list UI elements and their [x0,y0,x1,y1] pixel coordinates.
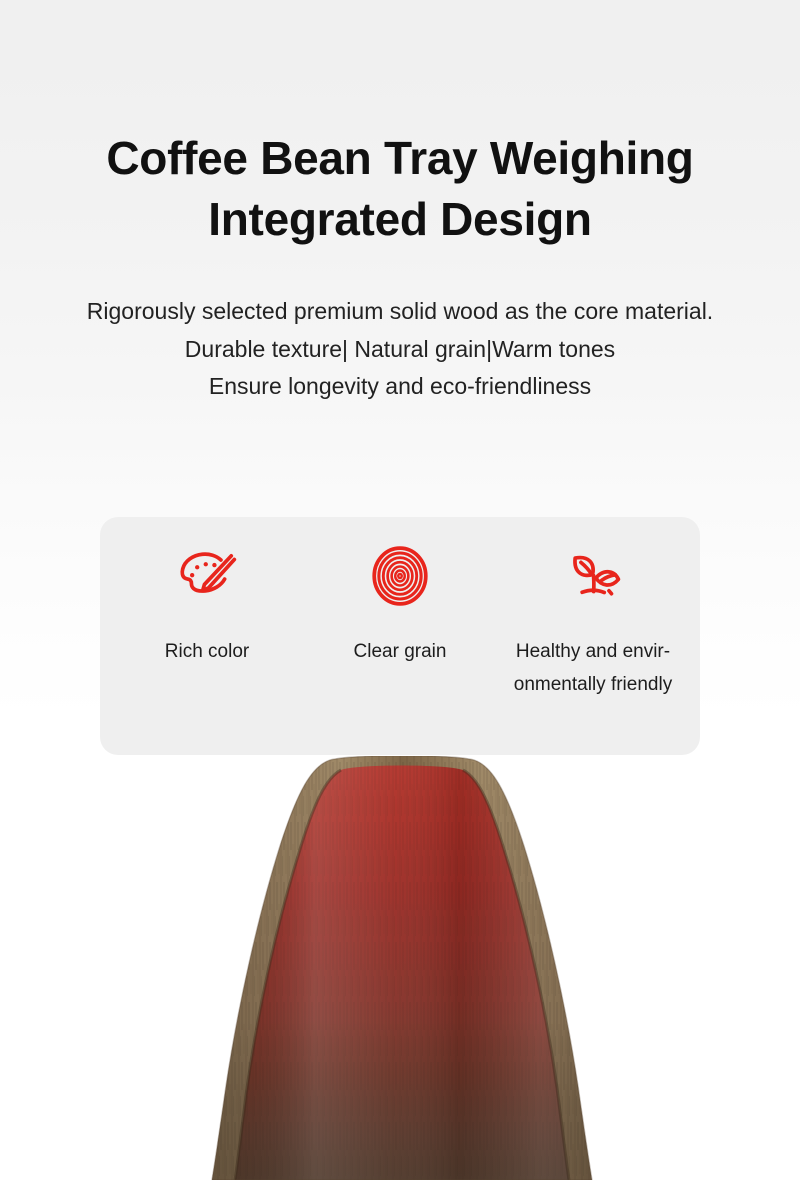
tree-rings-icon [367,543,433,609]
palette-icon [174,543,240,609]
feature-item-clear-grain: Clear grain [305,543,495,668]
feature-card: Rich color Clear grain [100,517,700,755]
feature-list: Rich color Clear grain [100,517,700,755]
page-title: Coffee Bean Tray Weighing Integrated Des… [0,0,800,249]
feature-label: Rich color [165,635,249,668]
product-image [0,756,800,1180]
feature-label: Healthy and envir- onmentally friendly [514,635,672,702]
hero-section: Coffee Bean Tray Weighing Integrated Des… [0,0,800,405]
feature-label: Clear grain [354,635,447,668]
feature-item-rich-color: Rich color [112,543,302,668]
sprout-icon [560,543,626,609]
feature-item-eco-friendly: Healthy and envir- onmentally friendly [498,543,688,702]
product-detail-page: Coffee Bean Tray Weighing Integrated Des… [0,0,800,1180]
hero-subtitle: Rigorously selected premium solid wood a… [0,249,800,405]
